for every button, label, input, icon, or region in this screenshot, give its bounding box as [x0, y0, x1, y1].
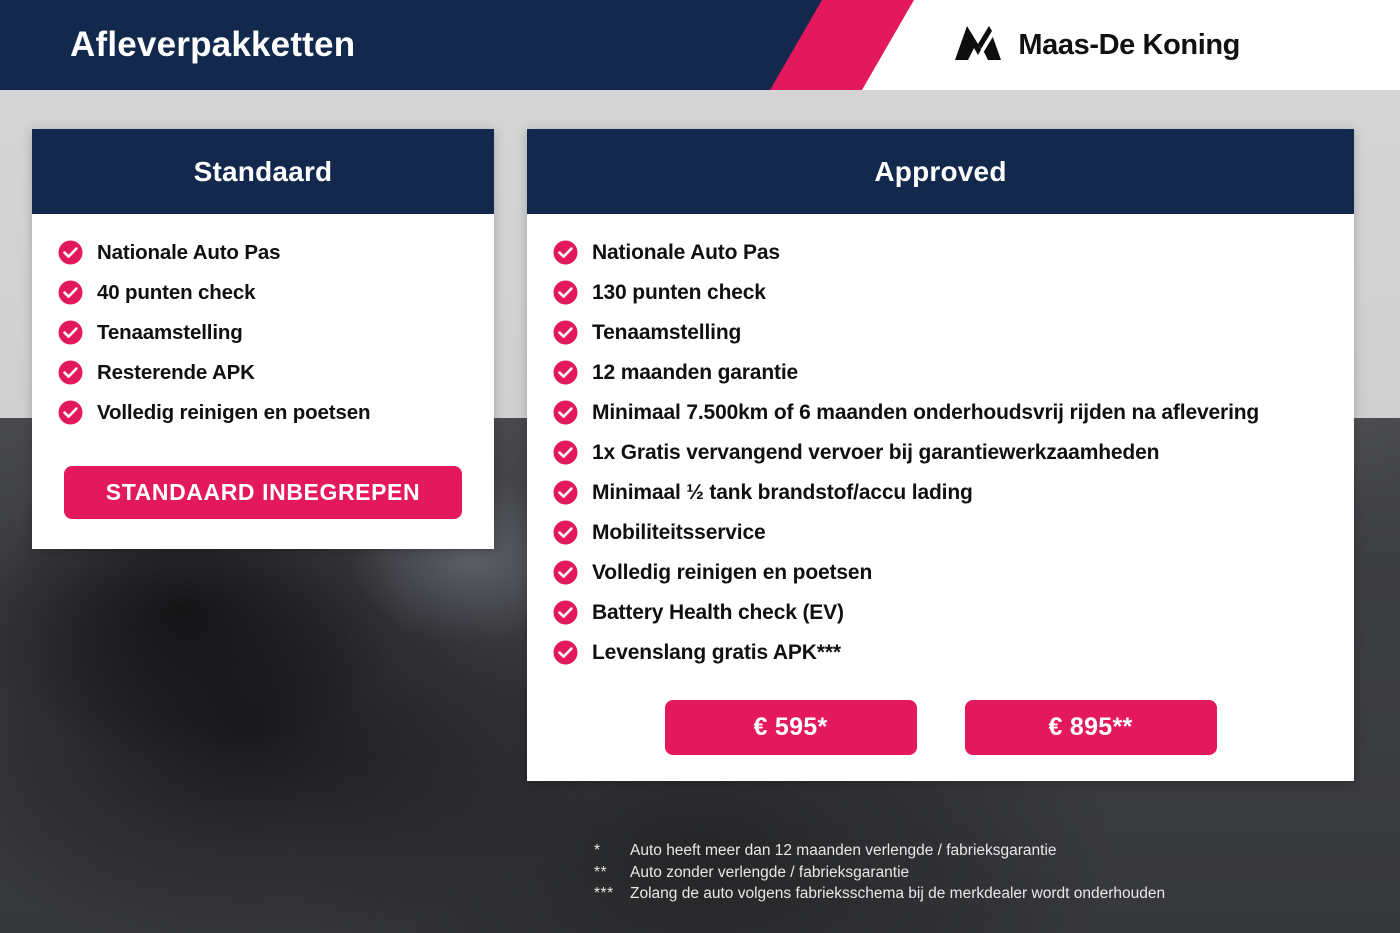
feature-label: Battery Health check (EV): [592, 596, 844, 629]
list-item: Nationale Auto Pas: [58, 236, 472, 269]
feature-list-approved: Nationale Auto Pas 130 punten check Tena…: [527, 236, 1354, 676]
list-item: Tenaamstelling: [58, 316, 472, 349]
footnote-text: Auto zonder verlengde / fabrieksgarantie: [630, 862, 909, 884]
feature-label: Minimaal ½ tank brandstof/accu lading: [592, 476, 973, 509]
standaard-inbegrepen-button[interactable]: STANDAARD INBEGREPEN: [64, 466, 462, 519]
check-circle-icon: [553, 400, 578, 425]
footnote-marker: **: [594, 862, 630, 884]
footnote-marker: ***: [594, 883, 630, 905]
feature-label: Nationale Auto Pas: [97, 236, 280, 269]
list-item: 130 punten check: [553, 276, 1332, 309]
list-item: Battery Health check (EV): [553, 596, 1332, 629]
check-circle-icon: [553, 640, 578, 665]
check-circle-icon: [553, 360, 578, 385]
footnote-row: ** Auto zonder verlengde / fabrieksgaran…: [594, 862, 1165, 884]
feature-label: 1x Gratis vervangend vervoer bij garanti…: [592, 436, 1159, 469]
feature-label: 130 punten check: [592, 276, 766, 309]
feature-label: Minimaal 7.500km of 6 maanden onderhouds…: [592, 396, 1259, 429]
check-circle-icon: [553, 240, 578, 265]
list-item: Levenslang gratis APK***: [553, 636, 1332, 669]
package-card-standaard: Standaard Nationale Auto Pas: [32, 129, 494, 549]
check-circle-icon: [58, 360, 83, 385]
check-circle-icon: [553, 440, 578, 465]
check-circle-icon: [553, 480, 578, 505]
check-circle-icon: [553, 280, 578, 305]
card-body-approved: Nationale Auto Pas 130 punten check Tena…: [527, 214, 1354, 781]
check-circle-icon: [553, 320, 578, 345]
list-item: Resterende APK: [58, 356, 472, 389]
list-item: Minimaal ½ tank brandstof/accu lading: [553, 476, 1332, 509]
list-item: 1x Gratis vervangend vervoer bij garanti…: [553, 436, 1332, 469]
card-header-approved: Approved: [527, 129, 1354, 214]
check-circle-icon: [58, 400, 83, 425]
footnote-text: Auto heeft meer dan 12 maanden verlengde…: [630, 840, 1057, 862]
footnote-row: *** Zolang de auto volgens fabrieksschem…: [594, 883, 1165, 905]
footnote-row: * Auto heeft meer dan 12 maanden verleng…: [594, 840, 1165, 862]
check-circle-icon: [553, 560, 578, 585]
brand-name: Maas-De Koning: [1018, 29, 1240, 62]
price-button-595[interactable]: € 595*: [665, 700, 917, 755]
feature-label: 40 punten check: [97, 276, 255, 309]
page-header: Afleverpakketten Maas-De Koning: [0, 0, 1400, 90]
feature-list-standaard: Nationale Auto Pas 40 punten check: [32, 236, 494, 436]
card-title-standaard: Standaard: [194, 156, 333, 188]
package-card-approved: Approved Nationale Auto Pas 130 punten c…: [527, 129, 1354, 781]
check-circle-icon: [58, 320, 83, 345]
feature-label: Nationale Auto Pas: [592, 236, 780, 269]
list-item: Tenaamstelling: [553, 316, 1332, 349]
page-title: Afleverpakketten: [70, 0, 355, 90]
maas-de-koning-logo-icon: [952, 23, 1004, 68]
feature-label: Volledig reinigen en poetsen: [592, 556, 872, 589]
price-button-row: € 595* € 895**: [527, 676, 1354, 781]
list-item: Volledig reinigen en poetsen: [553, 556, 1332, 589]
feature-label: Mobiliteitsservice: [592, 516, 766, 549]
feature-label: Tenaamstelling: [592, 316, 741, 349]
list-item: 40 punten check: [58, 276, 472, 309]
footnotes: * Auto heeft meer dan 12 maanden verleng…: [594, 840, 1165, 905]
card-title-approved: Approved: [874, 156, 1006, 188]
feature-label: Tenaamstelling: [97, 316, 243, 349]
list-item: Nationale Auto Pas: [553, 236, 1332, 269]
check-circle-icon: [553, 600, 578, 625]
check-circle-icon: [553, 520, 578, 545]
price-button-895[interactable]: € 895**: [965, 700, 1217, 755]
brand-logo: Maas-De Koning: [952, 0, 1240, 90]
list-item: Volledig reinigen en poetsen: [58, 396, 472, 429]
list-item: Mobiliteitsservice: [553, 516, 1332, 549]
feature-label: Volledig reinigen en poetsen: [97, 396, 370, 429]
feature-label: 12 maanden garantie: [592, 356, 798, 389]
footnote-marker: *: [594, 840, 630, 862]
card-header-standaard: Standaard: [32, 129, 494, 214]
list-item: Minimaal 7.500km of 6 maanden onderhouds…: [553, 396, 1332, 429]
list-item: 12 maanden garantie: [553, 356, 1332, 389]
feature-label: Levenslang gratis APK***: [592, 636, 841, 669]
footnote-text: Zolang de auto volgens fabrieksschema bi…: [630, 883, 1165, 905]
cta-wrapper-standaard: STANDAARD INBEGREPEN: [32, 436, 494, 549]
check-circle-icon: [58, 280, 83, 305]
delivery-packages-page: Afleverpakketten Maas-De Koning Standaar…: [0, 0, 1400, 933]
check-circle-icon: [58, 240, 83, 265]
feature-label: Resterende APK: [97, 356, 255, 389]
card-body-standaard: Nationale Auto Pas 40 punten check: [32, 214, 494, 549]
